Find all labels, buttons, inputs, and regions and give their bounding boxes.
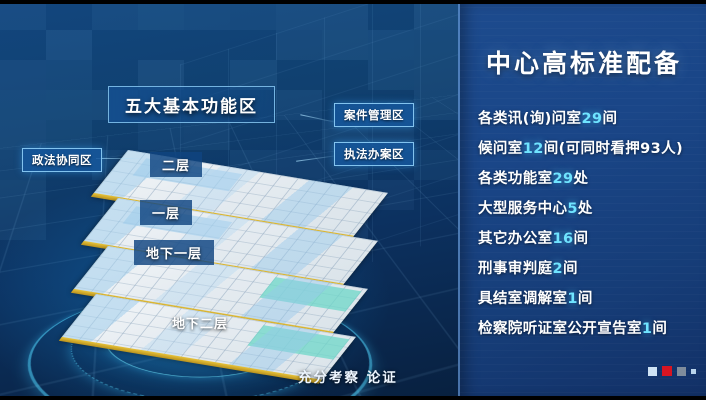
mosaic-block bbox=[0, 90, 46, 120]
mosaic-block bbox=[0, 60, 46, 90]
spec-item: 大型服务中心5处 bbox=[478, 194, 700, 224]
page-dot-1[interactable] bbox=[648, 367, 657, 376]
mosaic-block bbox=[138, 0, 184, 30]
slide-caption: 充分考察 论证 bbox=[298, 366, 398, 386]
zone-tag-zhifa[interactable]: 执法办案区 bbox=[334, 142, 414, 166]
spec-list: 各类讯(询)问室29间候问室12间(可同时看押93人)各类功能室29处大型服务中… bbox=[478, 104, 700, 344]
page-indicator[interactable] bbox=[648, 366, 696, 376]
mosaic-block bbox=[92, 0, 138, 30]
spec-item-text-pre: 各类讯(询)问室 bbox=[478, 112, 581, 127]
spec-item-text-pre: 大型服务中心 bbox=[478, 202, 567, 217]
page-dot-2[interactable] bbox=[662, 366, 672, 376]
letterbox-top bbox=[0, 0, 706, 4]
floor-label-b1: 地下一层 bbox=[134, 240, 214, 265]
spec-item-number: 29 bbox=[553, 172, 574, 187]
mosaic-block bbox=[46, 30, 92, 60]
mosaic-block bbox=[46, 60, 92, 90]
tag-leader-line-zhengfa bbox=[96, 158, 142, 159]
spec-item: 各类功能室29处 bbox=[478, 164, 700, 194]
spec-item-text-pre: 具结室调解室 bbox=[478, 292, 567, 307]
page-dot-3[interactable] bbox=[677, 367, 686, 376]
spec-item-text-pre: 各类功能室 bbox=[478, 172, 553, 187]
building-3d-scene: 二层 一层 地下一层 地下二层 五大基本功能区 政法协同区 案件管理区 执法办案… bbox=[0, 0, 460, 400]
spec-item-text-post: 间(可同时看押93人) bbox=[544, 142, 683, 157]
presentation-slide: 二层 一层 地下一层 地下二层 五大基本功能区 政法协同区 案件管理区 执法办案… bbox=[0, 0, 706, 400]
spec-item: 其它办公室16间 bbox=[478, 224, 700, 254]
spec-item-text-pre: 其它办公室 bbox=[478, 232, 553, 247]
page-dot-4[interactable] bbox=[691, 369, 696, 374]
spec-item-text-post: 处 bbox=[578, 202, 593, 217]
spec-item: 刑事审判庭2间 bbox=[478, 254, 700, 284]
floor-label-f1: 一层 bbox=[140, 200, 192, 225]
spec-item-number: 2 bbox=[553, 262, 564, 277]
spec-item-text-post: 间 bbox=[578, 292, 593, 307]
spec-item-text-post: 间 bbox=[563, 262, 578, 277]
spec-item: 各类讯(询)问室29间 bbox=[478, 104, 700, 134]
zone-tag-zhengfa[interactable]: 政法协同区 bbox=[22, 148, 102, 172]
spec-item-text-pre: 检察院听证室公开宣告室 bbox=[478, 322, 642, 337]
spec-item-number: 1 bbox=[567, 292, 578, 307]
spec-item-text-post: 间 bbox=[573, 232, 588, 247]
mosaic-block bbox=[46, 90, 92, 120]
spec-item: 检察院听证室公开宣告室1间 bbox=[478, 314, 700, 344]
mosaic-block bbox=[230, 0, 276, 30]
spec-item-text-pre: 候问室 bbox=[478, 142, 523, 157]
spec-item: 具结室调解室1间 bbox=[478, 284, 700, 314]
zone-tag-anjian[interactable]: 案件管理区 bbox=[334, 103, 414, 127]
spec-item: 候问室12间(可同时看押93人) bbox=[478, 134, 700, 164]
spec-panel: 中心高标准配备 各类讯(询)问室29间候问室12间(可同时看押93人)各类功能室… bbox=[458, 0, 706, 400]
scene-title: 五大基本功能区 bbox=[108, 86, 275, 123]
spec-item-text-post: 间 bbox=[602, 112, 617, 127]
spec-item-text-post: 间 bbox=[652, 322, 667, 337]
spec-item-number: 16 bbox=[553, 232, 574, 247]
spec-item-number: 29 bbox=[581, 112, 602, 127]
spec-item-number: 5 bbox=[567, 202, 578, 217]
letterbox-bottom bbox=[0, 396, 706, 400]
mosaic-block bbox=[0, 0, 46, 30]
floor-label-f2: 二层 bbox=[150, 152, 202, 177]
spec-item-text-post: 处 bbox=[573, 172, 588, 187]
floor-label-b2: 地下二层 bbox=[160, 310, 240, 335]
panel-title: 中心高标准配备 bbox=[460, 44, 706, 80]
spec-item-number: 12 bbox=[523, 142, 544, 157]
mosaic-block bbox=[184, 0, 230, 30]
spec-item-text-pre: 刑事审判庭 bbox=[478, 262, 553, 277]
spec-item-number: 1 bbox=[642, 322, 653, 337]
